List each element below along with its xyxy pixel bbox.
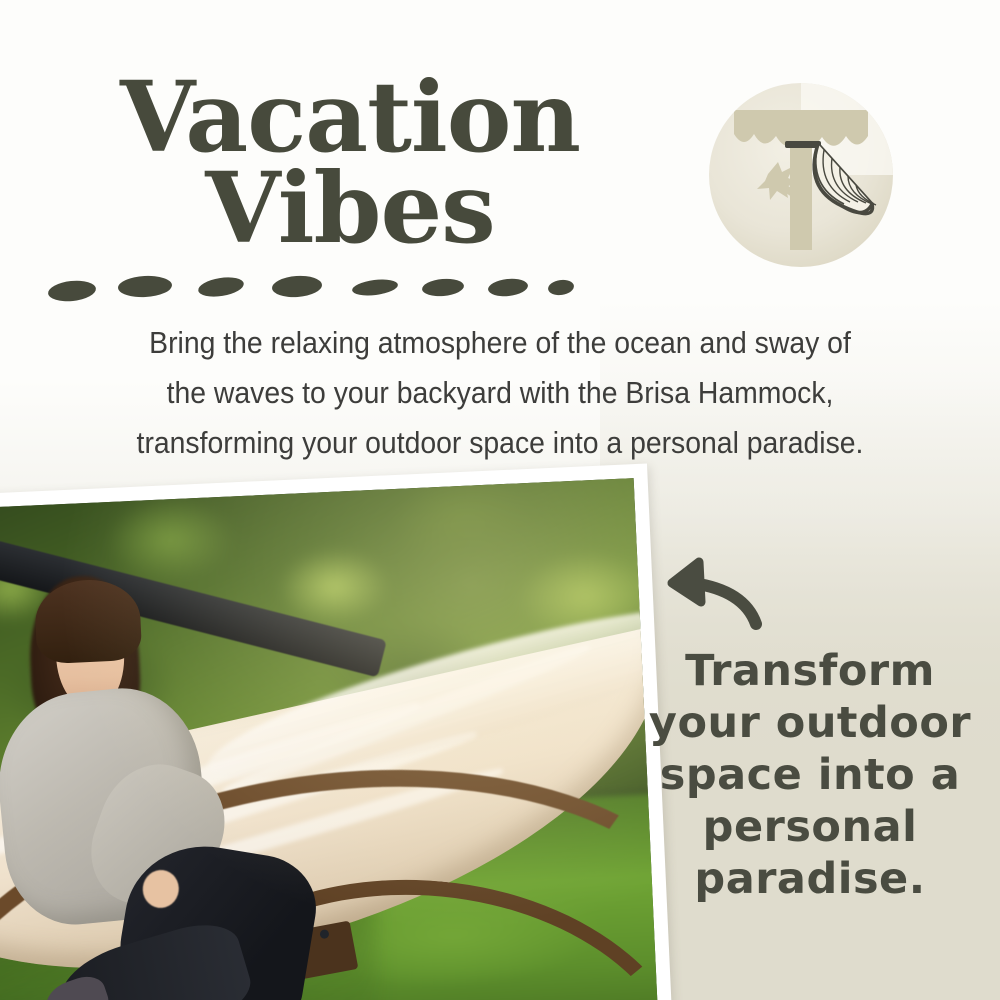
title-line-one: Vacation xyxy=(40,72,660,163)
divider-dash xyxy=(421,277,464,298)
divider-dash xyxy=(197,275,245,300)
poster-canvas: Vacation Vibes xyxy=(0,0,1000,1000)
divider-dash xyxy=(117,275,172,299)
body-copy: Bring the relaxing atmosphere of the oce… xyxy=(82,318,919,468)
divider-dash xyxy=(351,277,398,297)
callout-text: Transform your outdoor space into a pers… xyxy=(640,645,980,905)
divider-dash xyxy=(271,274,322,298)
hammock-tree-badge-icon xyxy=(708,82,894,268)
header-section: Vacation Vibes xyxy=(0,0,1000,480)
divider-dash xyxy=(547,278,575,296)
dashed-divider xyxy=(40,268,660,302)
photo-image xyxy=(0,478,658,1000)
person-in-hammock xyxy=(0,535,365,1000)
curved-arrow-left-icon xyxy=(652,556,762,634)
photo-scene xyxy=(0,478,658,1000)
title-line-two: Vibes xyxy=(40,163,660,254)
divider-dash xyxy=(487,277,529,298)
divider-dash xyxy=(47,279,97,304)
page-title: Vacation Vibes xyxy=(40,72,660,254)
hammock-lifestyle-photo xyxy=(0,464,672,1000)
